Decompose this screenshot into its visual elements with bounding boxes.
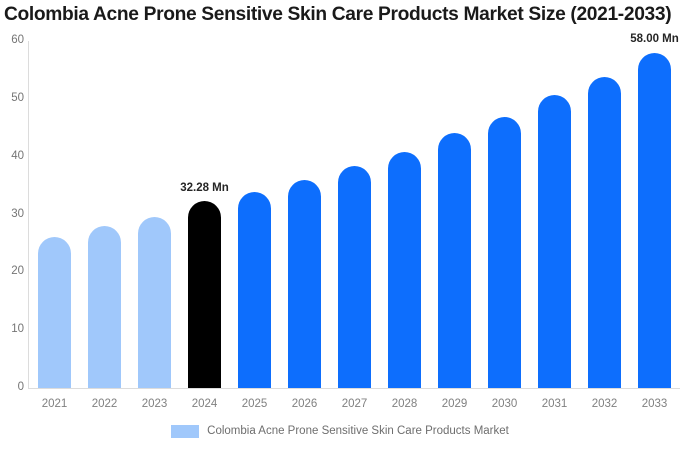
y-axis-tick-label: 10 [2, 324, 24, 336]
bar-slot [538, 41, 571, 388]
bar-slot [238, 41, 271, 388]
bar-2021[interactable] [38, 237, 71, 388]
bar-slot [438, 41, 471, 388]
y-axis-tick-label: 0 [2, 382, 24, 394]
bar-slot [88, 41, 121, 388]
x-axis-tick-label: 2031 [528, 399, 582, 411]
bar-2023[interactable] [138, 217, 171, 388]
x-axis-line [28, 388, 680, 389]
x-axis-tick-label: 2023 [128, 399, 182, 411]
bar-slot [488, 41, 521, 388]
bar-slot [388, 41, 421, 388]
bar-chart: Colombia Acne Prone Sensitive Skin Care … [0, 0, 680, 450]
bar-2032[interactable] [588, 77, 621, 388]
y-axis-tick-label: 50 [2, 93, 24, 105]
bar-value-label: 32.28 Mn [180, 183, 229, 195]
x-axis-tick-label: 2029 [428, 399, 482, 411]
x-axis-tick-label: 2022 [78, 399, 132, 411]
chart-legend: Colombia Acne Prone Sensitive Skin Care … [0, 425, 680, 438]
bar-2031[interactable] [538, 95, 571, 388]
x-axis-tick-label: 2027 [328, 399, 382, 411]
bar-slot [138, 41, 171, 388]
x-axis-tick-label: 2033 [628, 399, 680, 411]
x-axis-tick-label: 2028 [378, 399, 432, 411]
plot-area: 32.28 Mn58.00 Mn [28, 41, 680, 388]
bar-2029[interactable] [438, 133, 471, 388]
x-axis-tick-label: 2032 [578, 399, 632, 411]
x-axis-tick-label: 2030 [478, 399, 532, 411]
bar-2022[interactable] [88, 226, 121, 388]
x-axis-tick-label: 2024 [178, 399, 232, 411]
bar-2028[interactable] [388, 152, 421, 388]
y-axis-tick-label: 40 [2, 151, 24, 163]
bar-2027[interactable] [338, 166, 371, 388]
bar-2030[interactable] [488, 117, 521, 388]
bar-2025[interactable] [238, 192, 271, 388]
y-axis-tick-label: 60 [2, 35, 24, 47]
y-axis-tick-label: 30 [2, 209, 24, 221]
bar-2033[interactable] [638, 53, 671, 388]
legend-swatch-icon [171, 425, 199, 438]
y-axis-tick-label: 20 [2, 266, 24, 278]
bar-2026[interactable] [288, 180, 321, 388]
legend-label: Colombia Acne Prone Sensitive Skin Care … [207, 426, 509, 438]
bar-value-label: 58.00 Mn [630, 34, 679, 46]
y-axis: 0102030405060 [0, 0, 24, 450]
x-axis-tick-label: 2025 [228, 399, 282, 411]
bar-slot [38, 41, 71, 388]
bar-slot [288, 41, 321, 388]
bar-slot [338, 41, 371, 388]
x-axis-tick-label: 2026 [278, 399, 332, 411]
bar-slot: 58.00 Mn [638, 41, 671, 388]
bar-slot [588, 41, 621, 388]
bar-2024[interactable] [188, 201, 221, 388]
bar-slot: 32.28 Mn [188, 41, 221, 388]
chart-title: Colombia Acne Prone Sensitive Skin Care … [4, 3, 670, 26]
x-axis-tick-label: 2021 [28, 399, 82, 411]
